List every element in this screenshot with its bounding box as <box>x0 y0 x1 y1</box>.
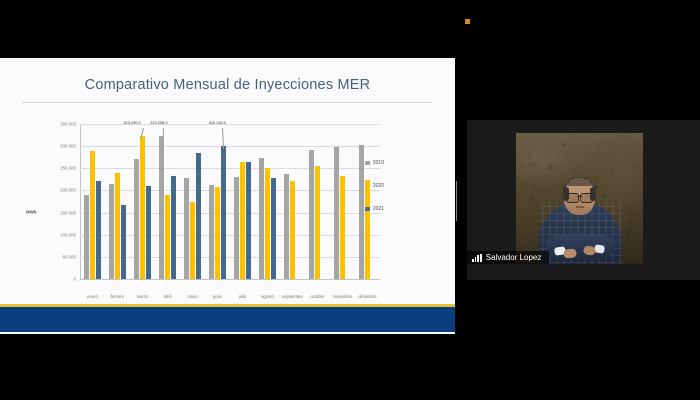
y-axis-tick: 250.000 <box>60 166 76 171</box>
bar-2021-julio <box>246 162 251 279</box>
bar-2021-enero <box>96 181 101 279</box>
bar-2019-agosto <box>259 158 264 279</box>
lens-right <box>580 193 593 203</box>
bar-group <box>130 124 155 279</box>
glasses-bridge <box>577 196 582 197</box>
lens-left <box>566 193 579 203</box>
bar-2019-noviembre <box>334 147 339 279</box>
share-scrollbar[interactable] <box>456 181 461 221</box>
bar-2019-julio <box>234 177 239 279</box>
x-axis-label: junio <box>205 294 230 299</box>
eyeglasses-icon <box>566 193 593 201</box>
bar-2020-septiembre <box>290 181 295 279</box>
bar-group <box>305 124 330 279</box>
participant-name: Salvador Lopez <box>486 253 542 262</box>
x-axis-label: marzo <box>130 294 155 299</box>
legend-label: 2019 <box>373 160 384 166</box>
bar-chart: MWh 350.000300.000250.000200.000150.0001… <box>24 116 432 301</box>
x-axis-labels: enerofebreromarzoabrilmayojuniojulioagos… <box>80 294 380 299</box>
legend-item-2019[interactable]: 2019 <box>365 160 384 166</box>
legend-label: 2020 <box>373 183 384 189</box>
participant-name-chip: Salvador Lopez <box>467 251 549 264</box>
bar-2019-mayo <box>184 178 189 279</box>
bar-2019-octubre <box>309 150 314 279</box>
legend-swatch <box>365 184 370 189</box>
mouth <box>575 206 584 208</box>
zoom-meeting-window: Comparativo Mensual de Inyecciones MER M… <box>0 0 700 400</box>
bar-2020-noviembre <box>340 176 345 279</box>
y-axis-tick: 50.000 <box>63 254 76 259</box>
bar-2020-marzo <box>140 136 145 279</box>
bar-group <box>330 124 355 279</box>
bar-group <box>230 124 255 279</box>
y-axis-tick: 350.000 <box>60 122 76 127</box>
bar-2019-junio <box>209 185 214 279</box>
bar-2019-diciembre <box>359 145 364 279</box>
bar-2021-abril <box>171 176 176 279</box>
bar-group <box>80 124 105 279</box>
title-divider <box>22 102 433 103</box>
presentation-slide: Comparativo Mensual de Inyecciones MER M… <box>0 58 455 334</box>
x-axis-label: octubre <box>305 294 330 299</box>
data-label-2021-junio: 300.128,5 <box>208 120 225 125</box>
bar-2021-mayo <box>196 153 201 279</box>
bar-2021-febrero <box>121 205 126 279</box>
bar-group <box>155 124 180 279</box>
legend-item-2021[interactable]: 2021 <box>365 206 384 212</box>
y-axis-tick: 100.000 <box>60 232 76 237</box>
bar-group <box>280 124 305 279</box>
bar-2021-marzo <box>146 186 151 279</box>
bar-2019-septiembre <box>284 174 289 279</box>
screen-share-region: Comparativo Mensual de Inyecciones MER M… <box>0 58 455 334</box>
x-axis-label: febrero <box>105 294 130 299</box>
chart-legend: 201920202021 <box>365 160 384 229</box>
head <box>564 178 595 215</box>
bar-2020-mayo <box>190 202 195 280</box>
bar-2019-marzo <box>134 159 139 279</box>
bar-group <box>255 124 280 279</box>
hand-left <box>563 248 577 258</box>
participant-figure <box>538 178 621 264</box>
hair-top <box>567 177 592 186</box>
x-axis-label: mayo <box>180 294 205 299</box>
plot-area: 350.000300.000250.000200.000150.000100.0… <box>80 124 380 279</box>
bar-2020-enero <box>90 151 95 279</box>
bar-2020-abril <box>165 195 170 279</box>
legend-swatch <box>365 207 370 212</box>
bar-2020-febrero <box>115 173 120 279</box>
x-axis-label: diciembre <box>355 294 380 299</box>
data-label-2020-marzo: 323.290,9 <box>123 120 140 125</box>
bar-group <box>105 124 130 279</box>
bar-2020-julio <box>240 162 245 279</box>
y-axis-label: MWh <box>26 210 36 215</box>
legend-item-2020[interactable]: 2020 <box>365 183 384 189</box>
bar-2019-febrero <box>109 184 114 279</box>
bar-2019-enero <box>84 195 89 279</box>
signal-bars-icon <box>472 254 482 262</box>
x-axis-label: septiembre <box>280 294 305 299</box>
bar-groups <box>80 124 380 279</box>
x-axis-label: abril <box>155 294 180 299</box>
y-axis-tick: 200.000 <box>60 188 76 193</box>
footer-band: ENTE OPERADOR REGIONAL DEL MERCADO ELECT… <box>0 307 455 332</box>
bar-2021-agosto <box>271 178 276 279</box>
y-axis-tick: 150.000 <box>60 210 76 215</box>
x-axis-label: agosto <box>255 294 280 299</box>
recording-indicator <box>465 19 470 24</box>
legend-label: 2021 <box>373 206 384 212</box>
legend-swatch <box>365 161 370 166</box>
webcam-feed <box>516 133 643 264</box>
x-axis-label: enero <box>80 294 105 299</box>
bar-2020-octubre <box>315 166 320 279</box>
bar-2021-junio <box>221 146 226 279</box>
y-axis-tick: 300.000 <box>60 144 76 149</box>
bar-group <box>180 124 205 279</box>
x-axis-label: noviembre <box>330 294 355 299</box>
data-label-2019-abril: 323.258,9 <box>150 120 167 125</box>
slide-title: Comparativo Mensual de Inyecciones MER <box>0 77 455 93</box>
bar-group <box>205 124 230 279</box>
x-axis-label: julio <box>230 294 255 299</box>
y-axis-tick: 0 <box>74 277 76 282</box>
bar-2020-junio <box>215 187 220 279</box>
participant-video-tile[interactable]: Salvador Lopez <box>467 120 700 280</box>
bar-2019-abril <box>159 136 164 279</box>
bar-2020-agosto <box>265 168 270 279</box>
gridline <box>80 279 380 280</box>
